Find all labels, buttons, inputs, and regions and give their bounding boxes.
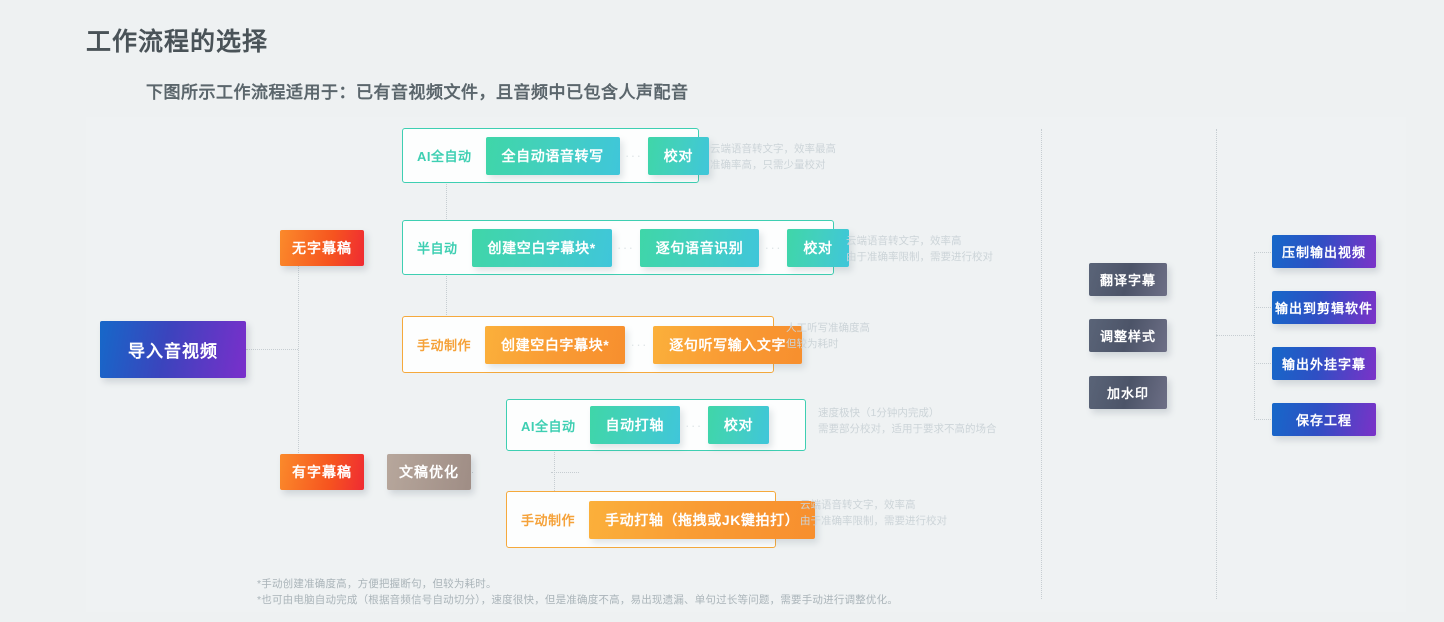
node-output-encode-video-label: 压制输出视频 [1282,242,1366,261]
node-script-optimize-label: 文稿优化 [399,462,459,482]
step-separator-dots: ··· [680,406,708,444]
node-import-media[interactable]: 导入音视频 [100,321,246,378]
connector-entry-trunk [246,349,298,350]
node-add-watermark[interactable]: 加水印 [1089,376,1167,409]
node-adjust-style[interactable]: 调整样式 [1089,319,1167,352]
node-add-watermark-label: 加水印 [1107,383,1149,402]
node-script-optimize[interactable]: 文稿优化 [387,454,471,490]
page-subtitle: 下图所示工作流程适用于：已有音视频文件，且音频中已包含人声配音 [146,78,689,103]
node-source-has-subtitle[interactable]: 有字幕稿 [280,454,364,490]
flow-row-1-note: 云端语音转文字，效率最高 准确率高，只需少量校对 [710,141,890,174]
node-output-external-subtitle[interactable]: 输出外挂字幕 [1272,347,1376,380]
flow-row-2-step-2[interactable]: 逐句语音识别 [640,229,760,267]
connector-output-spine [1254,252,1255,420]
node-save-project[interactable]: 保存工程 [1272,403,1376,436]
flow-row-5-step-1[interactable]: 手动打轴（拖拽或JK键拍打） [589,501,815,539]
flow-row-4[interactable]: AI全自动 自动打轴 ··· 校对 [506,399,806,451]
node-translate-subtitle-label: 翻译字幕 [1100,270,1156,289]
node-output-encode-video[interactable]: 压制输出视频 [1272,235,1376,268]
flow-row-4-mode: AI全自动 [521,416,576,435]
flow-row-2-step-3[interactable]: 校对 [787,229,848,267]
connector-output-in [1216,335,1254,336]
node-adjust-style-label: 调整样式 [1100,326,1156,345]
flow-row-3-step-2[interactable]: 逐句听写输入文字 [653,326,802,364]
node-output-to-editor[interactable]: 输出到剪辑软件 [1272,291,1376,324]
node-import-media-label: 导入音视频 [128,337,218,362]
flow-row-3-mode: 手动制作 [417,335,471,354]
page-title: 工作流程的选择 [86,22,268,58]
footnote-1: *手动创建准确度高，方便把握断句，但较为耗时。 [257,576,497,591]
flow-row-5-mode: 手动制作 [521,510,575,529]
diagram-root: 工作流程的选择 下图所示工作流程适用于：已有音视频文件，且音频中已包含人声配音 … [0,0,1444,622]
flow-row-2-note: 云端语音转文字，效率高 由于准确率限制，需要进行校对 [846,233,1046,266]
flow-row-1[interactable]: AI全自动 全自动语音转写 ··· 校对 [402,128,699,183]
connector-optimize-out [551,472,579,473]
flow-row-1-mode: AI全自动 [417,146,472,165]
flow-row-2[interactable]: 半自动 创建空白字幕块* ··· 逐句语音识别 ··· 校对 [402,220,834,275]
node-output-external-subtitle-label: 输出外挂字幕 [1282,354,1366,373]
divider-output [1216,129,1217,599]
flow-row-2-mode: 半自动 [417,238,458,257]
flow-row-2-step-1[interactable]: 创建空白字幕块* [472,229,612,267]
flow-row-4-step-1[interactable]: 自动打轴 [590,406,680,444]
step-separator-dots: ··· [620,137,648,175]
flow-row-4-note: 速度极快（1分钟内完成） 需要部分校对，适用于要求不高的场合 [818,405,1048,438]
flow-row-3-note: 人工听写准确度高 但较为耗时 [786,320,966,353]
node-output-to-editor-label: 输出到剪辑软件 [1275,298,1373,317]
flow-row-1-step-1[interactable]: 全自动语音转写 [486,137,620,175]
node-translate-subtitle[interactable]: 翻译字幕 [1089,263,1167,296]
footnote-2: *也可由电脑自动完成（根据音频信号自动切分），速度很快，但是准确度不高，易出现遗… [257,592,898,607]
flow-row-3-step-1[interactable]: 创建空白字幕块* [485,326,625,364]
flow-row-4-step-2[interactable]: 校对 [708,406,769,444]
step-separator-dots: ··· [612,229,640,267]
flow-row-3[interactable]: 手动制作 创建空白字幕块* ··· 逐句听写输入文字 [402,316,774,373]
divider-enhance [1041,129,1042,599]
node-save-project-label: 保存工程 [1296,410,1352,429]
workflow-canvas: 导入音视频 无字幕稿 有字幕稿 文稿优化 AI全自动 全自动语音转写 ··· 校… [86,117,1406,612]
node-source-has-subtitle-label: 有字幕稿 [292,462,352,482]
flow-row-5-note: 云端语音转文字，效率高 由于准确率限制，需要进行校对 [800,497,1000,530]
step-separator-dots: ··· [759,229,787,267]
node-source-no-subtitle-label: 无字幕稿 [292,238,352,258]
connector-source-spine [298,248,299,473]
node-source-no-subtitle[interactable]: 无字幕稿 [280,230,364,266]
flow-row-5[interactable]: 手动制作 手动打轴（拖拽或JK键拍打） [506,491,776,548]
step-separator-dots: ··· [625,326,653,364]
flow-row-1-step-2[interactable]: 校对 [648,137,709,175]
